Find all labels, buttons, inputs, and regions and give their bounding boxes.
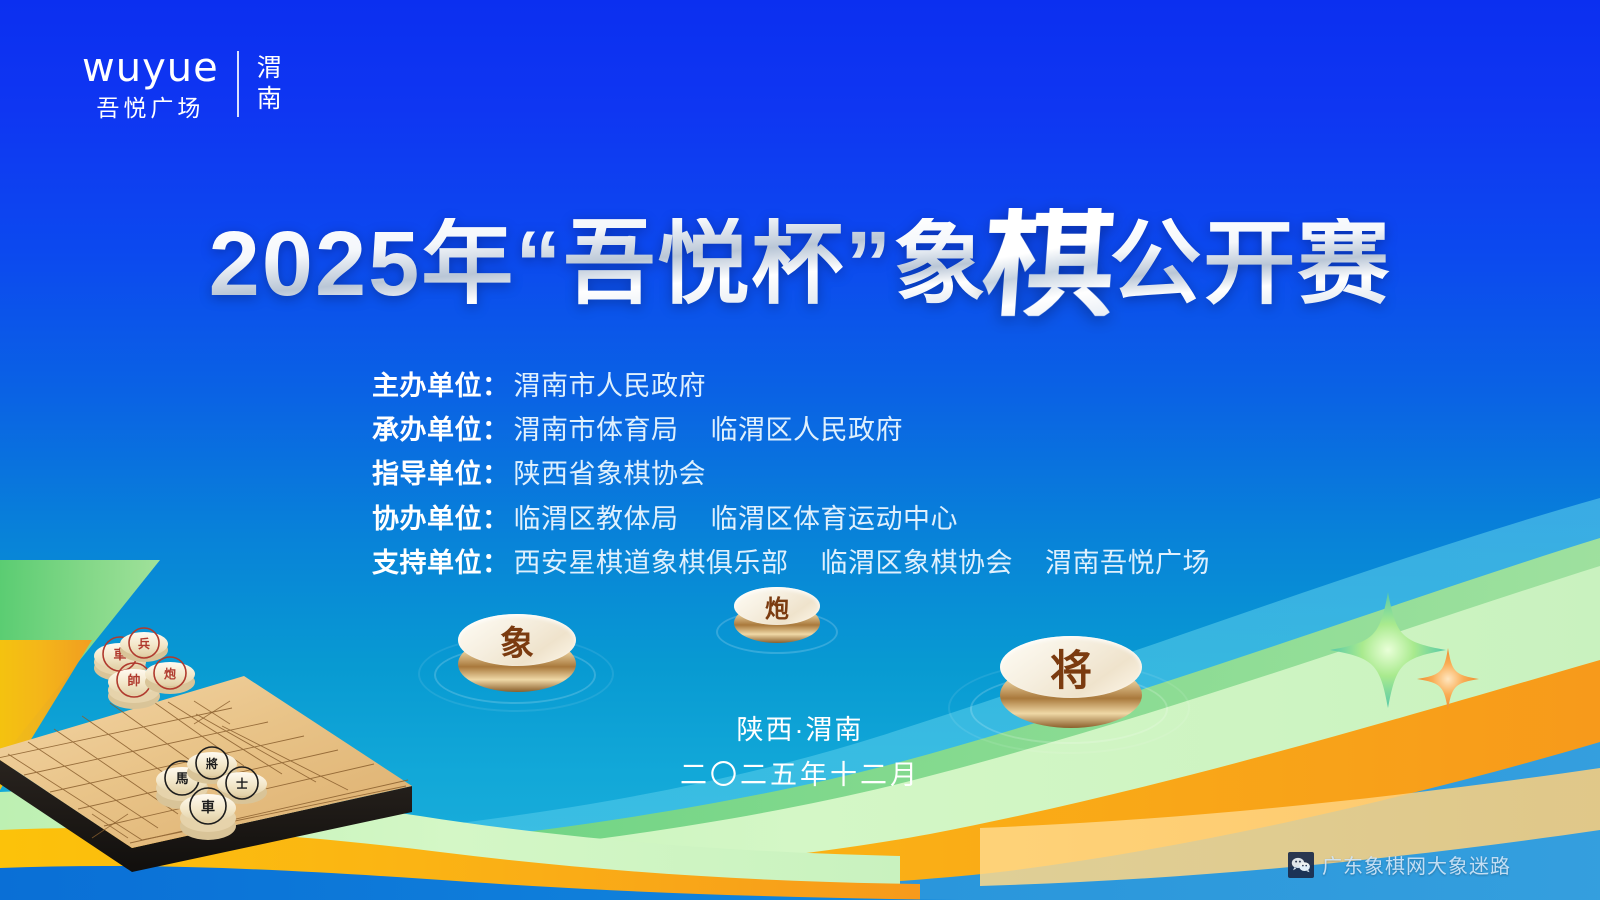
logo-city-char-2: 南	[257, 84, 283, 115]
logo-divider	[237, 51, 239, 117]
svg-text:帥: 帥	[127, 673, 140, 689]
logo-city: 渭 南	[257, 53, 283, 116]
organizer-label: 协办单位：	[372, 501, 510, 537]
gold-piece-jiang-char: 将	[1000, 636, 1142, 698]
organizer-row-organizer: 承办单位： 渭南市体育局 临渭区人民政府	[372, 412, 1210, 448]
gold-piece-xiang-char: 象	[458, 614, 576, 666]
svg-text:炮: 炮	[164, 666, 176, 681]
organizer-row-guidance: 指导单位： 陕西省象棋协会	[372, 456, 1210, 492]
organizer-value: 渭南市人民政府	[514, 368, 707, 404]
event-date: 二〇二五年十二月	[0, 755, 1600, 796]
organizer-row-host: 主办单位： 渭南市人民政府	[372, 368, 1210, 404]
svg-text:車: 車	[201, 799, 215, 816]
organizer-row-coorganizer: 协办单位： 临渭区教体局 临渭区体育运动中心	[372, 501, 1210, 537]
logo-primary: wuyue 吾悦广场	[82, 48, 219, 120]
logo-chinese-name: 吾悦广场	[96, 97, 204, 120]
organizer-label: 主办单位：	[372, 368, 510, 404]
organizer-label: 指导单位：	[372, 456, 510, 492]
event-location: 陕西·渭南	[0, 710, 1600, 751]
wechat-icon	[1288, 852, 1314, 878]
footer-info: 陕西·渭南 二〇二五年十二月	[0, 710, 1600, 795]
organizer-value: 临渭区教体局 临渭区体育运动中心	[514, 501, 959, 537]
organizer-label: 支持单位：	[372, 545, 510, 581]
gold-piece-pao-char: 炮	[734, 587, 820, 625]
title-part-xiang: 象	[893, 218, 987, 310]
event-title: 2025年“吾悦杯” 象 棋 公开赛	[0, 196, 1600, 310]
gold-piece-pao: 炮	[730, 586, 826, 654]
logo-city-char-1: 渭	[257, 53, 283, 84]
watermark-text: 广东象棋网大象迷路	[1322, 850, 1511, 879]
title-part-year-cup: 2025年“吾悦杯”	[209, 218, 894, 310]
title-part-open: 公开赛	[1109, 218, 1391, 310]
logo-wordmark: wuyue	[82, 48, 219, 88]
wuyue-logo: wuyue 吾悦广场 渭 南	[82, 48, 283, 120]
watermark: 广东象棋网大象迷路	[1288, 850, 1511, 879]
organizer-value: 陕西省象棋协会	[514, 456, 707, 492]
organizer-list: 主办单位： 渭南市人民政府 承办单位： 渭南市体育局 临渭区人民政府 指导单位：…	[372, 368, 1210, 589]
organizer-value: 西安星棋道象棋俱乐部 临渭区象棋协会 渭南吾悦广场	[514, 545, 1211, 581]
title-part-qi-brush: 棋	[980, 208, 1120, 316]
organizer-label: 承办单位：	[372, 412, 510, 448]
organizer-value: 渭南市体育局 临渭区人民政府	[514, 412, 904, 448]
gold-piece-xiang: 象	[452, 612, 582, 704]
poster-canvas: wuyue 吾悦广场 渭 南 2025年“吾悦杯” 象 棋 公开赛 主办单位： …	[0, 0, 1600, 900]
organizer-row-support: 支持单位： 西安星棋道象棋俱乐部 临渭区象棋协会 渭南吾悦广场	[372, 545, 1210, 581]
svg-text:兵: 兵	[138, 636, 150, 651]
